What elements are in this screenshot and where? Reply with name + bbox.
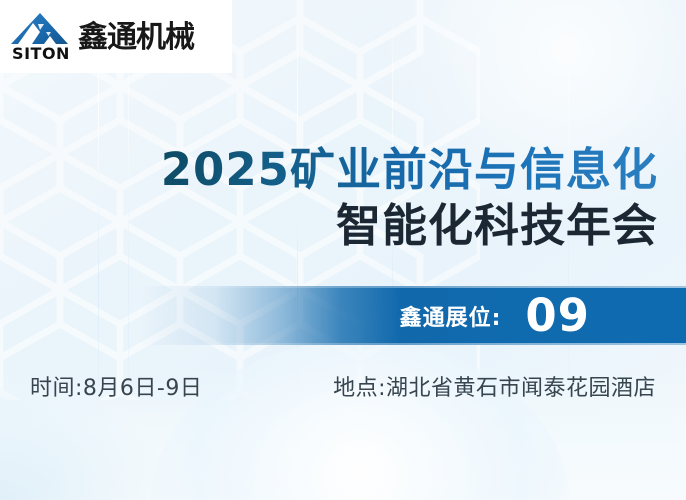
event-time: 时间:8月6日-9日 <box>30 370 202 402</box>
booth-label: 鑫通展位: <box>400 300 502 332</box>
bottom-center-glow <box>150 340 570 500</box>
page-title: 2025矿业前沿与信息化 智能化科技年会 <box>161 142 658 254</box>
light-streak <box>98 0 99 500</box>
brand-logo: SITON 鑫通机械 <box>0 0 232 73</box>
mountain-logo-icon: SITON <box>10 12 72 62</box>
booth-number: 09 <box>525 293 590 338</box>
brand-chinese-name: 鑫通机械 <box>78 23 194 53</box>
event-info-row: 时间:8月6日-9日 地点:湖北省黄石市闻泰花园酒店 <box>0 368 686 404</box>
booth-banner: 鑫通展位: 09 <box>0 286 686 345</box>
title-line-2: 智能化科技年会 <box>161 198 658 254</box>
title-line-1: 2025矿业前沿与信息化 <box>161 142 658 198</box>
light-streak <box>128 0 129 500</box>
event-poster: SITON 鑫通机械 2025矿业前沿与信息化 智能化科技年会 鑫通展位: 09… <box>0 0 686 500</box>
svg-text:SITON: SITON <box>12 44 70 62</box>
event-place: 地点:湖北省黄石市闻泰花园酒店 <box>333 370 656 402</box>
